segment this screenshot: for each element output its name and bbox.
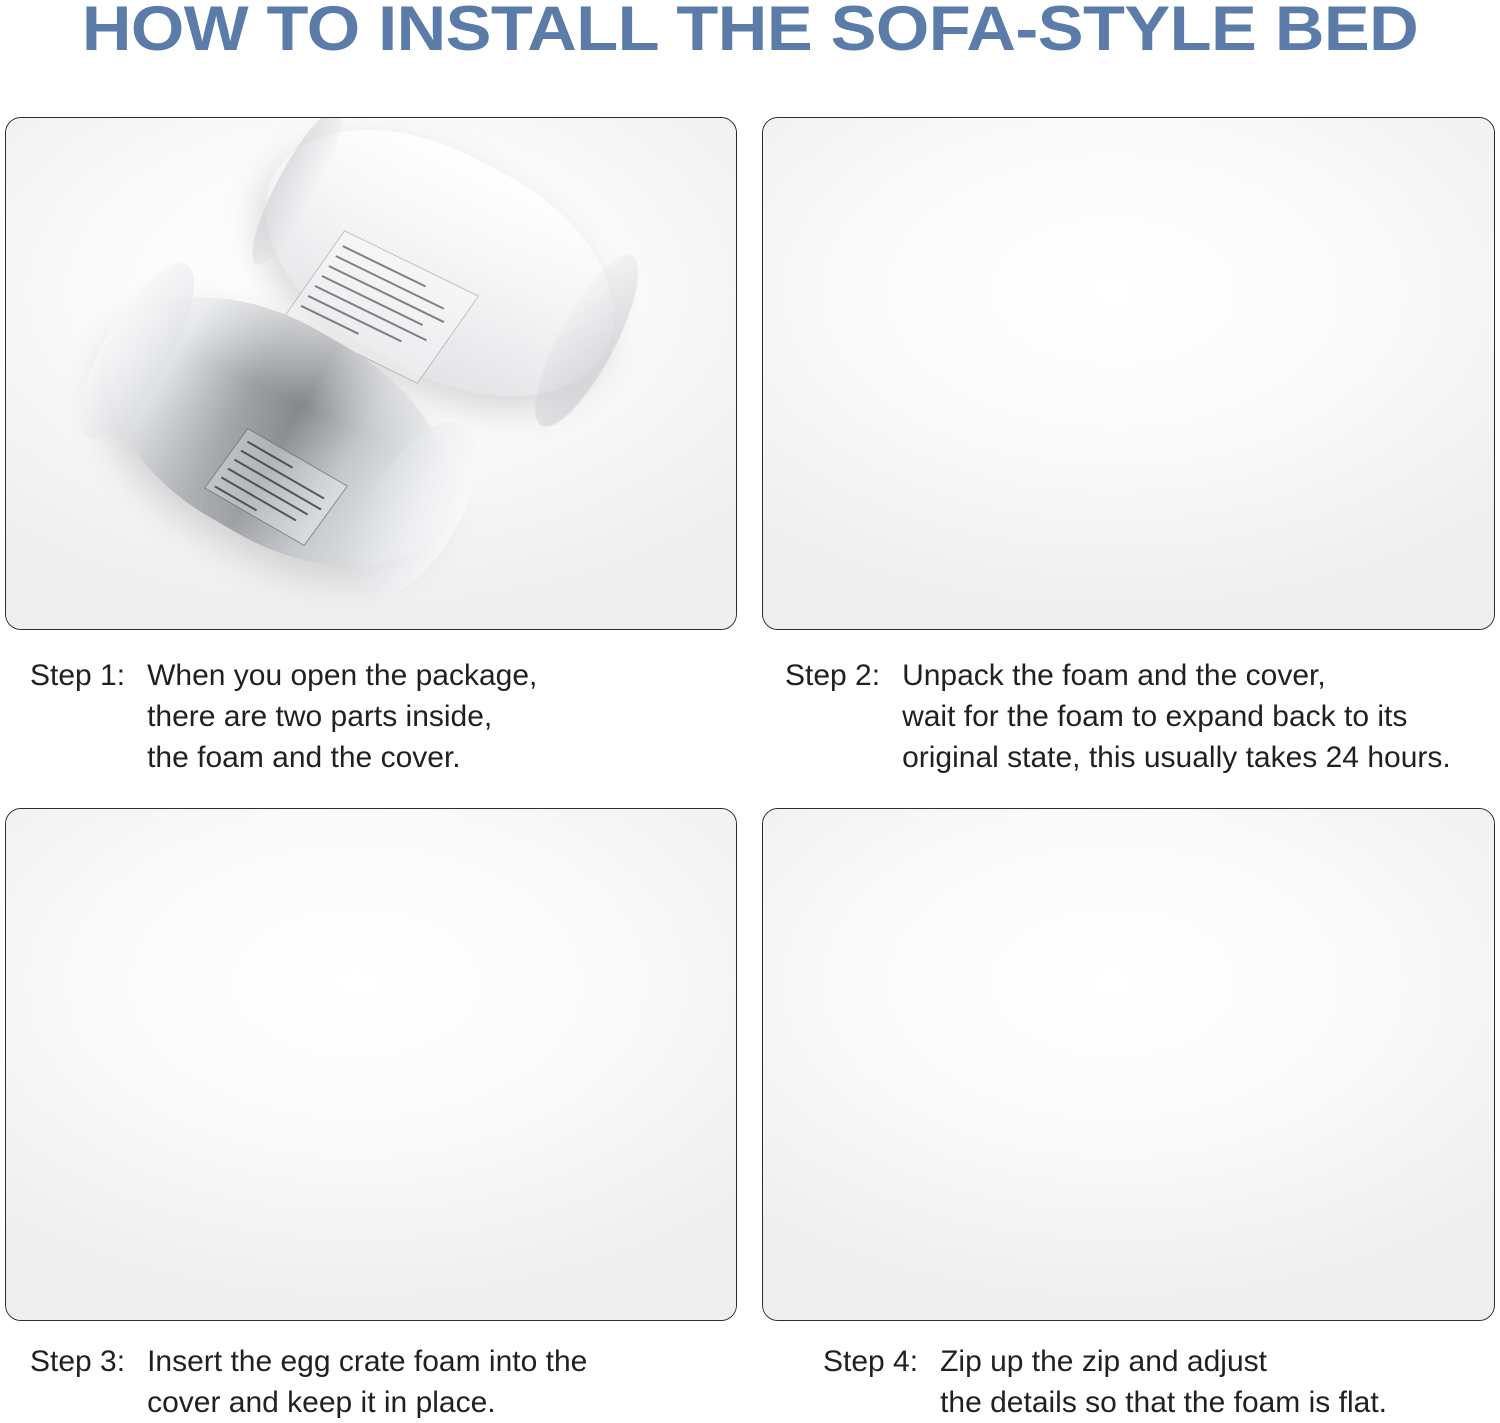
step-3-image-panel (5, 808, 737, 1321)
infographic-page: HOW TO INSTALL THE SOFA-STYLE BED (0, 0, 1500, 1422)
page-title: HOW TO INSTALL THE SOFA-STYLE BED (0, 0, 1500, 62)
step-3-text: Insert the egg crate foam into the cover… (147, 1341, 587, 1423)
step-4-text: Zip up the zip and adjust the details so… (940, 1341, 1387, 1423)
step-2-photo (763, 118, 1494, 629)
step-4-label: Step 4: (823, 1341, 940, 1382)
step-2-image-panel (762, 117, 1495, 630)
step-1-photo (6, 118, 736, 629)
step-4-caption: Step 4: Zip up the zip and adjust the de… (823, 1341, 1387, 1423)
step-1-label: Step 1: (30, 655, 147, 696)
studio-backdrop (763, 809, 1494, 1320)
studio-backdrop (763, 118, 1494, 629)
step-1-image-panel (5, 117, 737, 630)
step-2-caption: Step 2: Unpack the foam and the cover, w… (785, 655, 1451, 778)
studio-backdrop (6, 809, 736, 1320)
step-3-photo (6, 809, 736, 1320)
step-2-label: Step 2: (785, 655, 902, 696)
step-1-caption: Step 1: When you open the package, there… (30, 655, 537, 778)
step-3-label: Step 3: (30, 1341, 147, 1382)
step-2-text: Unpack the foam and the cover, wait for … (902, 655, 1451, 778)
step-1-text: When you open the package, there are two… (147, 655, 537, 778)
step-4-image-panel (762, 808, 1495, 1321)
step-4-photo (763, 809, 1494, 1320)
step-3-caption: Step 3: Insert the egg crate foam into t… (30, 1341, 587, 1423)
